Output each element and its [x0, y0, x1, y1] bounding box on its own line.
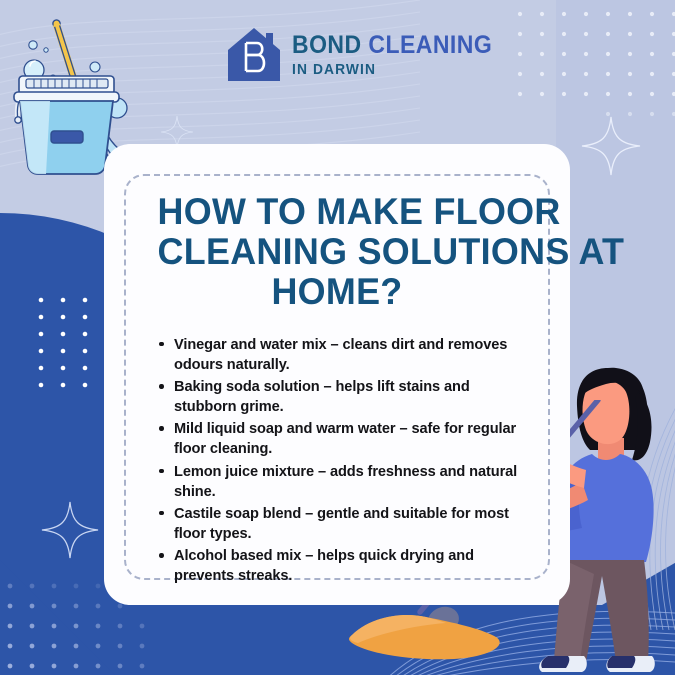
- tips-list: Vinegar and water mix – cleans dirt and …: [142, 335, 532, 587]
- list-item: Mild liquid soap and warm water – safe f…: [174, 419, 526, 459]
- page-title-line-2: CLEANING SOLUTIONS AT: [158, 232, 517, 272]
- brand-name-bond: BOND: [292, 31, 362, 59]
- brand-logo-text: BOND CLEANING IN DARWIN: [292, 31, 510, 77]
- brand-name: BOND CLEANING: [292, 33, 492, 58]
- brand-tagline: IN DARWIN: [292, 62, 492, 77]
- mop-head-illustration: [330, 595, 565, 675]
- mop-bucket-icon: [14, 76, 119, 174]
- sparkle-icon-bottomleft: [40, 500, 100, 560]
- list-item: Vinegar and water mix – cleans dirt and …: [174, 335, 526, 375]
- page-title-line-3: HOME?: [158, 272, 517, 312]
- list-item: Baking soda solution – helps lift stains…: [174, 377, 526, 417]
- dot-grid-left-blue-icon: [36, 295, 96, 395]
- list-item: Castile soap blend – gentle and suitable…: [174, 504, 526, 544]
- dot-grid-topright-icon: [514, 8, 675, 123]
- brand-name-cleaning: CLEANING: [368, 31, 492, 59]
- brand-logo[interactable]: BOND CLEANING IN DARWIN: [225, 25, 510, 83]
- infographic-poster: BOND CLEANING IN DARWIN HOW TO MAKE FLOO…: [0, 0, 675, 675]
- list-item: Lemon juice mixture – adds freshness and…: [174, 462, 526, 502]
- sparkle-icon-topright: [580, 115, 642, 177]
- list-item: Alcohol based mix – helps quick drying a…: [174, 546, 526, 586]
- page-title: HOW TO MAKE FLOOR CLEANING SOLUTIONS AT …: [148, 192, 526, 312]
- content-card: HOW TO MAKE FLOOR CLEANING SOLUTIONS AT …: [104, 144, 570, 605]
- house-with-b-icon: [225, 25, 283, 83]
- page-title-line-1: HOW TO MAKE FLOOR: [158, 192, 517, 232]
